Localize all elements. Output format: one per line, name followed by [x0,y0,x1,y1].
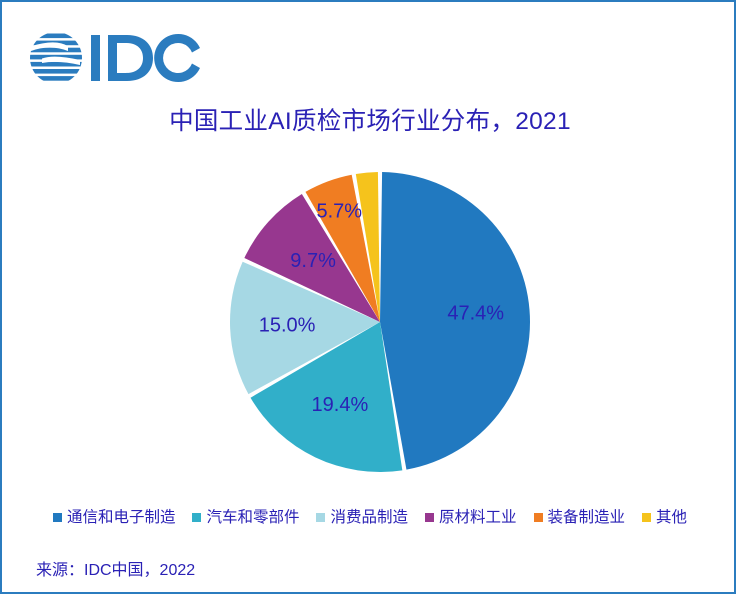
legend-swatch-icon [53,513,62,522]
legend-item-label: 消费品制造 [330,510,408,526]
pie-chart-svg: 47.4%19.4%15.0%9.7%5.7%2.8% [2,152,736,502]
legend-item[interactable]: 消费品制造 [316,510,408,526]
legend-swatch-icon [316,513,325,522]
legend-item[interactable]: 原材料工业 [425,510,517,526]
idc-logo [28,28,228,88]
legend-swatch-icon [192,513,201,522]
legend-swatch-icon [534,513,543,522]
idc-wordmark [91,34,200,82]
legend-item-label: 其他 [656,510,687,526]
pie-slice-label: 19.4% [312,394,369,416]
chart-legend: 通信和电子制造汽车和零部件消费品制造原材料工业装备制造业其他 [2,510,736,526]
legend-swatch-icon [425,513,434,522]
globe-icon [28,34,88,81]
legend-swatch-icon [642,513,651,522]
legend-item[interactable]: 通信和电子制造 [53,510,176,526]
legend-item[interactable]: 装备制造业 [534,510,626,526]
legend-item[interactable]: 汽车和零部件 [192,510,299,526]
idc-logo-svg [28,29,218,87]
pie-slice-label: 5.7% [317,201,363,223]
legend-item-label: 通信和电子制造 [67,510,176,526]
pie-slice-label: 2.8% [341,152,387,153]
pie-slice-label: 15.0% [259,314,316,336]
chart-title: 中国工业AI质检市场行业分布，2021 [2,102,736,137]
pie-chart: 47.4%19.4%15.0%9.7%5.7%2.8% [2,152,736,502]
legend-item[interactable]: 其他 [642,510,687,526]
source-note: 来源：IDC中国，2022 [36,556,195,580]
legend-item-label: 汽车和零部件 [206,510,299,526]
pie-slice-label: 47.4% [447,302,504,324]
legend-item-label: 装备制造业 [548,510,626,526]
chart-page: 中国工业AI质检市场行业分布，2021 47.4%19.4%15.0%9.7%5… [0,0,736,594]
legend-item-label: 原材料工业 [439,510,517,526]
pie-slice-label: 9.7% [290,250,336,272]
